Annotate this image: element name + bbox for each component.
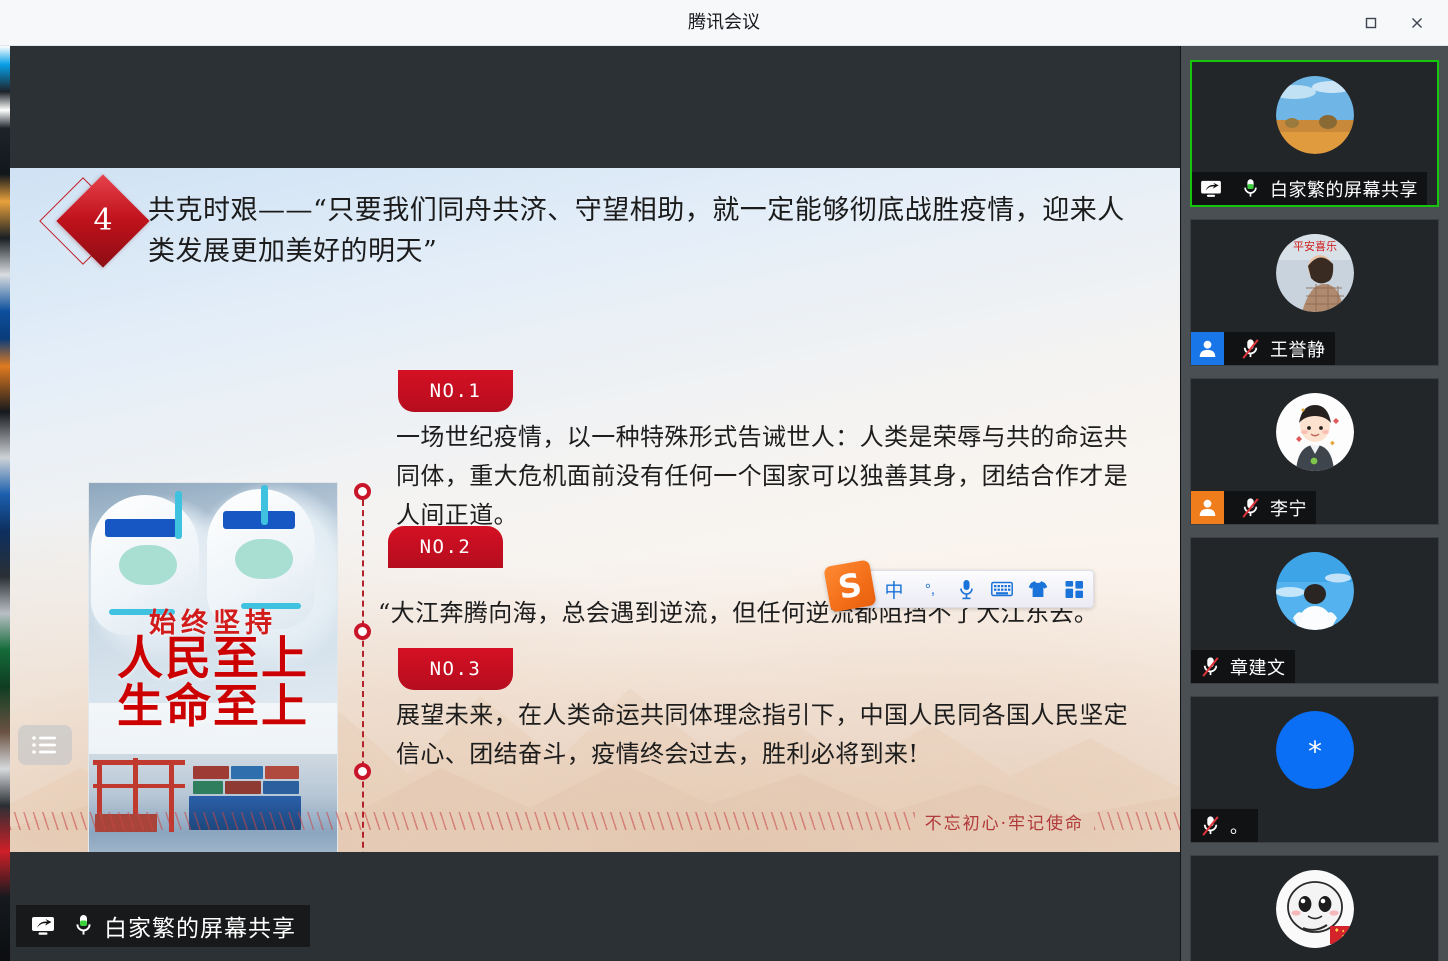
timeline-marker-2 <box>354 623 371 640</box>
sogou-logo-icon[interactable]: S <box>823 559 876 612</box>
participant-name: 白家繁的屏幕共享 <box>1270 176 1418 202</box>
participant-rail[interactable]: 白家繁的屏幕共享 平安喜乐 <box>1181 46 1448 961</box>
microphone-on-icon <box>1237 176 1263 202</box>
slide-number-text: 4 <box>70 188 136 254</box>
section-banner-3: NO.3 <box>398 648 513 690</box>
participant-tile[interactable]: 平安喜乐 <box>1190 219 1439 366</box>
keyboard-icon <box>991 581 1013 597</box>
ime-skin-changer-button[interactable] <box>1027 576 1049 602</box>
minimize-button[interactable] <box>1302 4 1348 42</box>
avatar <box>1276 393 1354 471</box>
ime-language-mode-button[interactable]: 中 <box>883 576 905 602</box>
participant-name: 王誉静 <box>1270 336 1326 362</box>
microphone-muted-icon <box>1237 495 1263 521</box>
presentation-slide: 4 共克时艰——“只要我们同舟共济、守望相助，就一定能够彻底战胜疫情，迎来人类发… <box>10 168 1180 852</box>
tile-status-bar: 白家繁的屏幕共享 <box>1192 172 1427 205</box>
tile-status-bar: 李宁 <box>1191 491 1316 524</box>
participant-tile[interactable]: 刘春萍 <box>1190 855 1439 961</box>
participant-tile[interactable]: 李宁 <box>1190 378 1439 525</box>
tile-status-bar: 王誉静 <box>1191 332 1335 365</box>
section-text-1: 一场世纪疫情，以一种特殊形式告诫世人：人类是荣辱与共的命运共同体，重大危机面前没… <box>396 418 1134 535</box>
svg-text:平安喜乐: 平安喜乐 <box>1293 239 1337 253</box>
poster-line-2a: 人民至上 <box>89 635 337 683</box>
ime-soft-keyboard-button[interactable] <box>991 576 1013 602</box>
ime-toolbox-button[interactable] <box>1063 576 1085 602</box>
microphone-on-icon <box>70 913 96 939</box>
shared-screen-stage[interactable]: 4 共克时艰——“只要我们同舟共济、守望相助，就一定能够彻底战胜疫情，迎来人类发… <box>10 46 1180 961</box>
hatch-right <box>1094 812 1180 830</box>
microphone-muted-icon <box>1237 336 1263 362</box>
screen-share-status-bar: 白家繁的屏幕共享 <box>16 905 310 947</box>
svg-text:*: * <box>1308 735 1322 768</box>
screen-share-owner-name: 白家繁的屏幕共享 <box>104 909 296 943</box>
tile-status-bar: 。 <box>1191 809 1258 842</box>
tile-status-bar: 章建文 <box>1191 650 1295 683</box>
avatar: * <box>1276 711 1354 789</box>
microphone-muted-icon <box>1197 654 1223 680</box>
ime-voice-input-button[interactable] <box>955 576 977 602</box>
slide-number-badge: 4 <box>50 178 144 272</box>
microphone-icon <box>958 579 975 600</box>
poster-line-3: 生命至上 <box>89 683 337 731</box>
window-controls <box>1302 0 1440 46</box>
section-banner-2: NO.2 <box>388 526 503 568</box>
window-title: 腾讯会议 <box>0 0 1448 46</box>
close-button[interactable] <box>1394 4 1440 42</box>
ime-punctuation-mode-button[interactable]: °, <box>919 576 941 602</box>
poster-line-2: 人民至上 生命至上 <box>89 635 337 731</box>
participant-name: 。 <box>1230 813 1249 839</box>
timeline-marker-1 <box>354 483 371 500</box>
section-text-3: 展望未来，在人类命运共同体理念指引下，中国人民同各国人民坚定信心、团结奋斗，疫情… <box>396 696 1136 774</box>
slide-footer-ribbon: 不忘初心·牢记使命 <box>10 808 1180 834</box>
participant-name: 李宁 <box>1270 495 1307 521</box>
list-menu-icon <box>31 735 59 755</box>
apps-grid-icon <box>1065 580 1084 599</box>
avatar <box>1276 552 1354 630</box>
timeline-dashed-line <box>362 490 364 852</box>
annotation-toolbar-button[interactable] <box>18 725 72 765</box>
avatar: 平安喜乐 <box>1276 234 1354 312</box>
poster-image: 始终坚持 人民至上 生命至上 新华全媒头条 <box>88 482 338 852</box>
participant-name: 章建文 <box>1230 654 1286 680</box>
participant-tile[interactable]: 章建文 <box>1190 537 1439 684</box>
user-badge-icon <box>1191 491 1224 524</box>
slide-heading-row: 4 共克时艰——“只要我们同舟共济、守望相助，就一定能够彻底战胜疫情，迎来人类发… <box>50 186 1140 272</box>
user-badge-icon <box>1191 332 1224 365</box>
background-window-sliver <box>0 46 10 961</box>
window-title-bar: 腾讯会议 <box>0 0 1448 46</box>
hatch-left <box>10 812 915 830</box>
slide-heading-text: 共克时艰——“只要我们同舟共济、守望相助，就一定能够彻底战胜疫情，迎来人类发展更… <box>148 190 1140 272</box>
avatar <box>1276 870 1354 948</box>
screen-share-icon <box>1198 176 1224 202</box>
slide-footer-motto: 不忘初心·牢记使命 <box>915 809 1094 834</box>
section-banner-1: NO.1 <box>398 370 513 412</box>
participant-tile[interactable]: * 。 <box>1190 696 1439 843</box>
timeline-marker-3 <box>354 763 371 780</box>
shirt-icon <box>1028 580 1048 598</box>
microphone-muted-icon <box>1197 813 1223 839</box>
participant-tile[interactable]: 白家繁的屏幕共享 <box>1190 60 1439 207</box>
avatar <box>1276 76 1354 154</box>
sogou-ime-toolbar[interactable]: S 中 °, <box>848 570 1094 608</box>
tencent-meeting-window: 腾讯会议 <box>0 0 1448 961</box>
maximize-button[interactable] <box>1348 4 1394 42</box>
screen-share-icon <box>30 913 56 939</box>
poster-port-photo <box>89 754 337 852</box>
